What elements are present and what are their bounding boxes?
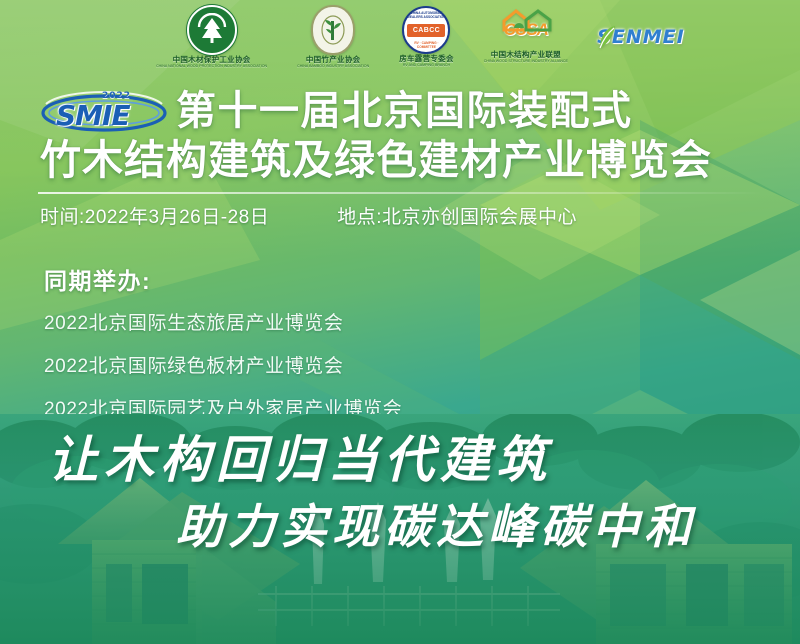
sponsor-subcaption: RV AND CAMPING BRANCH	[403, 64, 450, 68]
smie-acronym: SMIE	[56, 99, 130, 132]
cabcc-ring-bottom-text: RV · CAMPING · COMMITTEE	[404, 41, 448, 49]
sponsor-logo-cusa: CUSA 中国木结构产业联盟 CHINA WOOD STRUCTURE INDU…	[484, 10, 568, 63]
sponsor-logo-senmei: SENMEI	[598, 22, 684, 52]
title-block: 2022 SMIE 第十一届北京国际装配式 竹木结构建筑及绿色建材产业博览会	[0, 84, 800, 182]
sponsor-subcaption: CHINA NATIONAL WOOD PROTECTION INDUSTRY …	[156, 65, 267, 69]
slogan-line-1: 让木构回归当代建筑	[48, 420, 552, 492]
cabcc-acronym: CABCC	[407, 24, 445, 37]
tree-in-circle-icon	[187, 5, 237, 55]
sponsor-caption: 中国竹产业协会	[306, 56, 361, 64]
sponsor-logo-bamboo-industry-association: 中国竹产业协会 CHINA BAMBOO INDUSTRY ASSOCIATIO…	[297, 5, 369, 68]
event-info-row: 时间:2022年3月26日-28日 地点:北京亦创国际会展中心	[40, 202, 760, 229]
sponsor-caption: 房车露营专委会	[399, 55, 454, 63]
event-date: 时间:2022年3月26日-28日	[40, 202, 269, 229]
cabcc-seal-icon: CHINA AUTOMOBILE DEALERS ASSOCIATION CAB…	[402, 6, 450, 54]
sponsor-caption: 中国木材保护工业协会	[173, 56, 251, 64]
title-line-2: 竹木结构建筑及绿色建材产业博览会	[40, 139, 800, 182]
cabcc-ring-top-text: CHINA AUTOMOBILE DEALERS ASSOCIATION	[404, 11, 448, 19]
sponsor-caption: 中国木结构产业联盟	[491, 51, 561, 59]
sponsor-logo-strip: 中国木材保护工业协会 CHINA NATIONAL WOOD PROTECTIO…	[0, 0, 800, 74]
smie-logo: 2022 SMIE	[40, 90, 168, 132]
sponsor-logo-china-wood-protection-association: 中国木材保护工业协会 CHINA NATIONAL WOOD PROTECTIO…	[156, 5, 267, 68]
concurrent-events-block: 同期举办: 2022北京国际生态旅居产业博览会 2022北京国际绿色板材产业博览…	[44, 262, 402, 437]
cusa-house-icon: CUSA	[497, 10, 555, 50]
title-divider	[38, 192, 762, 194]
title-line-1: 第十一届北京国际装配式	[176, 90, 633, 132]
event-venue: 地点:北京亦创国际会展中心	[337, 202, 577, 229]
sponsor-logo-cabcc: CHINA AUTOMOBILE DEALERS ASSOCIATION CAB…	[399, 6, 454, 67]
concurrent-event-item: 2022北京国际生态旅居产业博览会	[44, 308, 402, 335]
exhibition-poster: 中国木材保护工业协会 CHINA NATIONAL WOOD PROTECTIO…	[0, 0, 800, 644]
bamboo-oval-icon	[311, 5, 355, 55]
slogan-line-2: 助力实现碳达峰碳中和	[176, 488, 696, 557]
concurrent-heading: 同期举办:	[44, 262, 402, 296]
sponsor-subcaption: CHINA WOOD STRUCTURE INDUSTRY ALLIANCE	[484, 60, 568, 64]
senmei-leaf-icon: SENMEI	[598, 22, 684, 52]
sponsor-subcaption: CHINA BAMBOO INDUSTRY ASSOCIATION	[297, 65, 369, 69]
concurrent-event-item: 2022北京国际绿色板材产业博览会	[44, 351, 402, 378]
